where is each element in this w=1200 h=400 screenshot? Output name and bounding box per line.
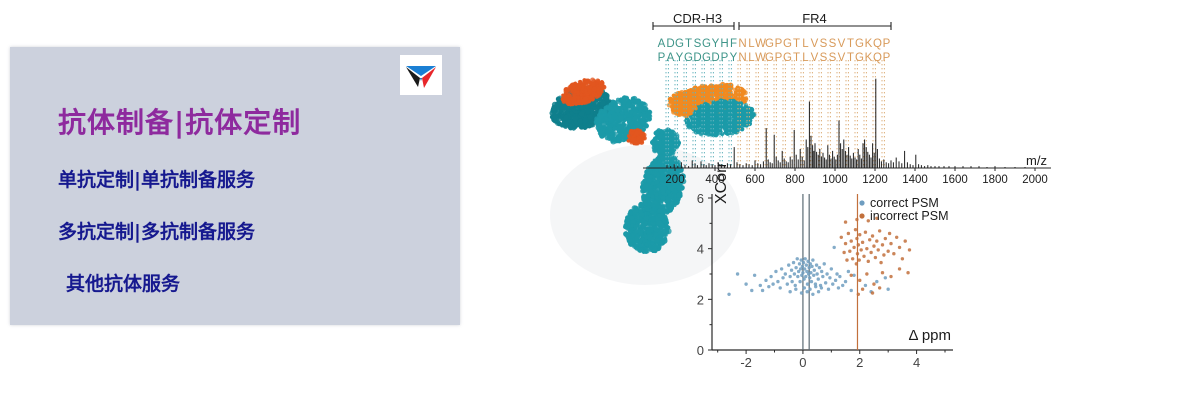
scatter-point xyxy=(906,271,909,274)
scatter-point xyxy=(904,239,907,242)
ms-tick-label: 200 xyxy=(665,174,684,186)
scatter-point xyxy=(861,241,864,244)
scatter-point xyxy=(787,263,790,266)
sequence-residue: Q xyxy=(873,38,882,50)
sequence-residue: K xyxy=(865,52,873,64)
sequence-alignment: CDR-H3FR4ADGTSGYHFNLWGPGTLVSSVTGKQPPAYGD… xyxy=(653,11,891,64)
sequence-residue: Q xyxy=(873,52,882,64)
scatter-point xyxy=(838,275,841,278)
scatter-point xyxy=(834,279,837,282)
scatter-point xyxy=(867,260,870,263)
scatter-point xyxy=(855,262,858,265)
scatter-point xyxy=(793,272,796,275)
sequence-residue: V xyxy=(838,52,846,64)
scatter-point xyxy=(803,267,806,270)
scatter-point xyxy=(892,252,895,255)
scatter-point xyxy=(767,285,770,288)
scatter-point xyxy=(808,276,811,279)
scatter-point xyxy=(823,262,826,265)
scatter-point xyxy=(854,228,857,231)
scatter-point xyxy=(811,258,814,261)
scatter-x-axis-label: Δ ppm xyxy=(908,327,951,344)
scatter-point xyxy=(809,271,812,274)
scatter-point xyxy=(855,237,858,240)
scatter-point xyxy=(792,261,795,264)
scatter-point xyxy=(888,232,891,235)
scatter-point xyxy=(828,276,831,279)
scatter-point xyxy=(820,270,823,273)
sequence-residue: L xyxy=(802,52,809,64)
sequence-residue: G xyxy=(765,52,774,64)
sequence-residue: V xyxy=(811,52,819,64)
scatter-point xyxy=(794,284,797,287)
ms-tick-label: 1800 xyxy=(982,174,1008,186)
promo-panel: 抗体制备|抗体定制 单抗定制|单抗制备服务 多抗定制|多抗制备服务 其他抗体服务 xyxy=(10,47,460,325)
scatter-point xyxy=(886,250,889,253)
scatter-point xyxy=(872,282,875,285)
scatter-point xyxy=(761,289,764,292)
scatter-point xyxy=(857,258,860,261)
scatter-point xyxy=(869,251,872,254)
scatter-point xyxy=(769,275,772,278)
scatter-point xyxy=(901,257,904,260)
antibody-ms-figure: 200400600800100012001400160018002000m/z … xyxy=(505,0,1065,400)
scatter-point xyxy=(796,275,799,278)
sequence-residue: V xyxy=(838,38,846,50)
scatter-point xyxy=(844,242,847,245)
scatter-point xyxy=(850,289,853,292)
ms-tick-label: 1600 xyxy=(942,174,968,186)
scatter-point xyxy=(801,271,804,274)
scatter-point xyxy=(798,262,801,265)
ms-tick-label: 600 xyxy=(745,174,764,186)
sequence-residue: S xyxy=(820,52,828,64)
promo-link-mab[interactable]: 单抗定制|单抗制备服务 xyxy=(58,165,255,192)
scatter-point xyxy=(847,270,850,273)
sequence-residue: P xyxy=(883,38,891,50)
sequence-residue: Y xyxy=(676,52,684,64)
scatter-point xyxy=(788,275,791,278)
scatter-point xyxy=(802,261,805,264)
scatter-point xyxy=(753,274,756,277)
scatter-point xyxy=(790,269,793,272)
scatter-point xyxy=(736,272,739,275)
scatter-point xyxy=(878,229,881,232)
sequence-residue: T xyxy=(793,38,800,50)
scatter-point xyxy=(889,275,892,278)
psm-scatter-chart: -20240246Δ ppmXCorrcorrect PSMincorrect … xyxy=(697,162,953,370)
sequence-residue: D xyxy=(693,52,701,64)
scatter-point xyxy=(813,269,816,272)
scatter-point xyxy=(806,260,809,263)
legend-label: correct PSM xyxy=(870,196,939,210)
scatter-point xyxy=(859,248,862,251)
scatter-point xyxy=(858,233,861,236)
scatter-point xyxy=(820,286,823,289)
scatter-x-tick-label: 4 xyxy=(913,355,920,370)
ms-tick-label: 2000 xyxy=(1022,174,1048,186)
scatter-point xyxy=(881,271,884,274)
page-title: 抗体制备|抗体定制 xyxy=(58,101,301,141)
sequence-residue: F xyxy=(730,38,737,50)
scatter-point xyxy=(841,284,844,287)
scatter-y-tick-label: 0 xyxy=(697,343,704,358)
scatter-point xyxy=(878,286,881,289)
scatter-point xyxy=(774,270,777,273)
scatter-point xyxy=(727,293,730,296)
scatter-point xyxy=(750,289,753,292)
scatter-point xyxy=(804,257,807,260)
scatter-point xyxy=(817,290,820,293)
scatter-point xyxy=(744,282,747,285)
scatter-y-tick-label: 4 xyxy=(697,242,704,257)
scatter-point xyxy=(877,248,880,251)
scatter-point xyxy=(794,266,797,269)
scatter-point xyxy=(801,265,804,268)
sequence-residue: G xyxy=(765,38,774,50)
scatter-point xyxy=(827,288,830,291)
scatter-point xyxy=(798,280,801,283)
scatter-point xyxy=(872,244,875,247)
sequence-residue: T xyxy=(847,52,854,64)
region-label-fr4: FR4 xyxy=(802,11,827,26)
scatter-point xyxy=(805,263,808,266)
scatter-point xyxy=(851,257,854,260)
sequence-residue: T xyxy=(793,52,800,64)
sequence-residue: P xyxy=(658,52,666,64)
scatter-point xyxy=(864,284,867,287)
scatter-point xyxy=(810,265,813,268)
scatter-point xyxy=(764,279,767,282)
scatter-point xyxy=(858,279,861,282)
scatter-point xyxy=(855,218,858,221)
scatter-point xyxy=(865,272,868,275)
scatter-point xyxy=(810,280,813,283)
scatter-point xyxy=(847,232,850,235)
scatter-point xyxy=(871,234,874,237)
promo-link-other[interactable]: 其他抗体服务 xyxy=(66,269,180,296)
sequence-residue: N xyxy=(738,38,746,50)
sequence-residue: L xyxy=(802,38,809,50)
sequence-residue: P xyxy=(883,52,891,64)
scatter-point xyxy=(815,272,818,275)
sequence-residue: A xyxy=(658,38,666,50)
sequence-residue: G xyxy=(855,38,864,50)
scatter-point xyxy=(824,281,827,284)
region-label-cdr-h3: CDR-H3 xyxy=(673,11,722,26)
scatter-point xyxy=(788,290,791,293)
legend-marker xyxy=(859,213,864,218)
scatter-point xyxy=(886,288,889,291)
scatter-point xyxy=(865,247,868,250)
sequence-residue: A xyxy=(667,52,675,64)
scatter-point xyxy=(844,220,847,223)
ms-tick-label: 1200 xyxy=(862,174,888,186)
scatter-point xyxy=(879,261,882,264)
scatter-point xyxy=(784,272,787,275)
scatter-point xyxy=(881,243,884,246)
sequence-residue: P xyxy=(775,52,783,64)
sequence-residue: N xyxy=(738,52,746,64)
arrow-logo-icon xyxy=(400,55,442,95)
scatter-x-tick-label: 2 xyxy=(856,355,863,370)
scatter-point xyxy=(806,282,809,285)
sequence-residue: Y xyxy=(712,38,720,50)
scatter-point xyxy=(805,290,808,293)
scatter-point xyxy=(800,258,803,261)
sequence-residue: Y xyxy=(730,52,738,64)
scatter-point xyxy=(868,238,871,241)
scatter-y-tick-label: 2 xyxy=(697,292,704,307)
scatter-point xyxy=(852,246,855,249)
scatter-point xyxy=(759,284,762,287)
sequence-residue: V xyxy=(811,38,819,50)
ms-tick-label: 1400 xyxy=(902,174,928,186)
scatter-point xyxy=(804,275,807,278)
scatter-point xyxy=(786,282,789,285)
scatter-point xyxy=(821,275,824,278)
scatter-point xyxy=(857,293,860,296)
scatter-point xyxy=(874,256,877,259)
legend-marker xyxy=(859,200,864,205)
scatter-point xyxy=(817,277,820,280)
scatter-y-axis-label: XCorr xyxy=(713,162,730,204)
sequence-residue: H xyxy=(720,38,728,50)
scatter-point xyxy=(861,288,864,291)
scatter-point xyxy=(898,246,901,249)
scatter-point xyxy=(862,255,865,258)
scatter-point xyxy=(837,286,840,289)
sequence-residue: G xyxy=(702,38,711,50)
sequence-residue: G xyxy=(675,38,684,50)
scatter-point xyxy=(825,272,828,275)
scatter-point xyxy=(800,291,803,294)
sequence-residue: S xyxy=(820,38,828,50)
scatter-point xyxy=(796,257,799,260)
sequence-residue: P xyxy=(775,38,783,50)
scatter-point xyxy=(875,239,878,242)
scatter-point xyxy=(845,258,848,261)
sequence-residue: T xyxy=(847,38,854,50)
sequence-residue: G xyxy=(783,52,792,64)
scatter-point xyxy=(790,280,793,283)
sequence-residue: K xyxy=(865,38,873,50)
sequence-residue: G xyxy=(783,38,792,50)
scatter-point xyxy=(895,236,898,239)
scatter-point xyxy=(875,280,878,283)
scatter-point xyxy=(811,293,814,296)
figure-canvas: 200400600800100012001400160018002000m/z … xyxy=(505,0,1065,400)
scatter-point xyxy=(871,291,874,294)
scatter-point xyxy=(884,237,887,240)
sequence-residue: S xyxy=(829,38,837,50)
scatter-point xyxy=(831,282,834,285)
scatter-point xyxy=(814,285,817,288)
legend-label: incorrect PSM xyxy=(870,209,949,223)
sequence-residue: T xyxy=(685,38,692,50)
scatter-y-tick-label: 6 xyxy=(697,191,704,206)
scatter-point xyxy=(889,242,892,245)
scatter-point xyxy=(864,231,867,234)
scatter-point xyxy=(850,274,853,277)
sequence-residue: G xyxy=(702,52,711,64)
scatter-point xyxy=(882,253,885,256)
scatter-point xyxy=(803,286,806,289)
scatter-point xyxy=(771,282,774,285)
ms-tick-label: 800 xyxy=(785,174,804,186)
scatter-point xyxy=(884,276,887,279)
scatter-point xyxy=(781,276,784,279)
scatter-point xyxy=(776,280,779,283)
scatter-point xyxy=(808,288,811,291)
scatter-point xyxy=(898,267,901,270)
sequence-residue: P xyxy=(721,52,729,64)
scatter-point xyxy=(812,274,815,277)
scatter-point xyxy=(857,243,860,246)
scatter-x-tick-label: -2 xyxy=(740,355,752,370)
sequence-residue: S xyxy=(694,38,702,50)
scatter-point xyxy=(778,286,781,289)
scatter-point xyxy=(840,236,843,239)
scatter-point xyxy=(830,267,833,270)
scatter-point xyxy=(908,248,911,251)
promo-link-pab[interactable]: 多抗定制|多抗制备服务 xyxy=(58,217,255,244)
scatter-point xyxy=(818,266,821,269)
scatter-point xyxy=(794,288,797,291)
sequence-residue: D xyxy=(711,52,719,64)
scatter-point xyxy=(815,263,818,266)
ms-tick-label: 1000 xyxy=(822,174,848,186)
sequence-residue: D xyxy=(666,38,674,50)
sequence-residue: G xyxy=(684,52,693,64)
scatter-point xyxy=(848,250,851,253)
scatter-x-tick-label: 0 xyxy=(799,355,806,370)
scatter-point xyxy=(856,252,859,255)
scatter-point xyxy=(850,239,853,242)
sequence-residue: S xyxy=(829,52,837,64)
scatter-point xyxy=(835,272,838,275)
ms-xaxis-label: m/z xyxy=(1026,153,1047,168)
scatter-point xyxy=(780,267,783,270)
scatter-point xyxy=(842,251,845,254)
scatter-point xyxy=(844,280,847,283)
sequence-residue: G xyxy=(855,52,864,64)
scatter-point xyxy=(832,246,835,249)
